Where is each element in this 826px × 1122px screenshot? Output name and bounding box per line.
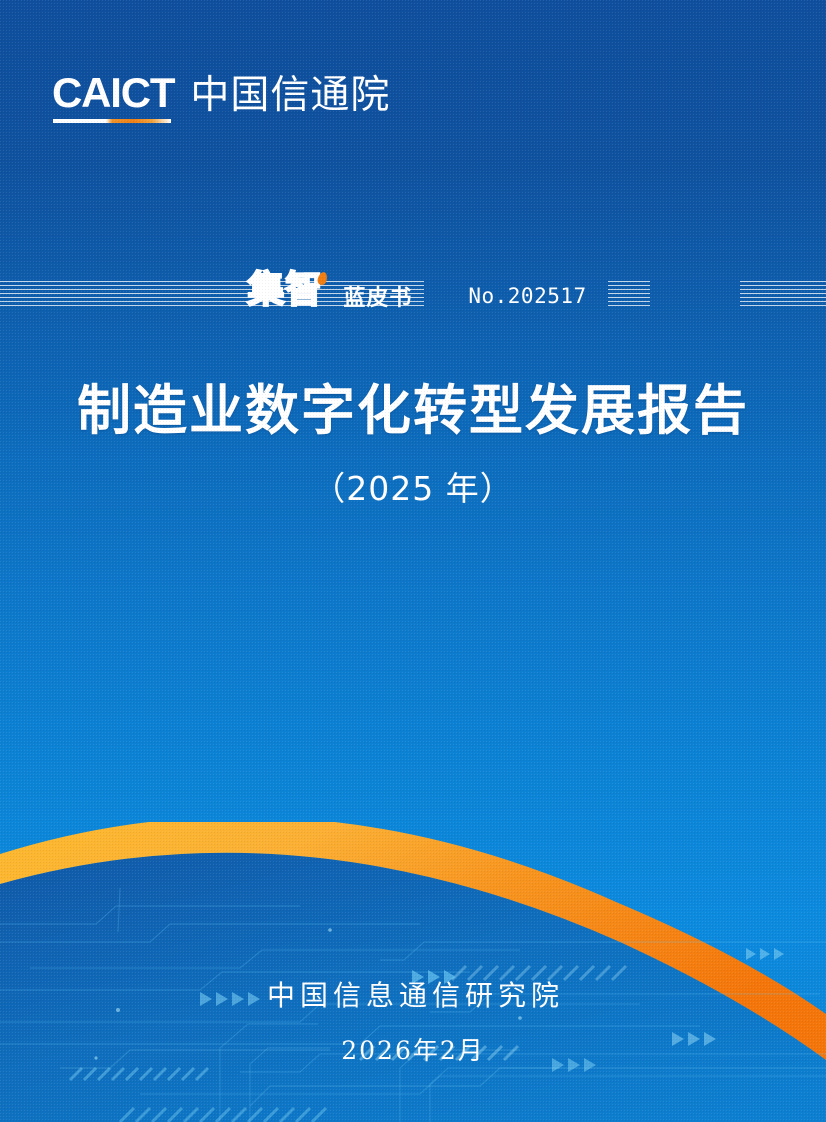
series-label: 蓝皮书 [343,280,412,312]
series-badge: 集智 蓝皮书 No.202517 [0,274,826,314]
issue-number: No.202517 [468,284,586,308]
publisher-organization: 中国信息通信研究院 [0,975,826,1017]
logo-chinese-name: 中国信通院 [190,76,390,115]
report-subtitle: （2025 年） [0,462,826,510]
document-cover: CAICT 中国信通院 集智 蓝皮书 No.202517 制造业数字化转型发展报… [0,0,826,1122]
orange-arc-decoration [0,822,826,1122]
report-title: 制造业数字化转型发展报告 [0,380,826,442]
series-badge-band: 集智 蓝皮书 No.202517 [0,274,826,314]
cover-footer: 中国信息通信研究院 2026年2月 [0,975,826,1067]
arc-svg [0,822,826,1122]
logo-underline-accent [53,119,171,123]
logo-mark: CAICT [52,72,174,114]
publication-date: 2026年2月 [0,1031,826,1067]
logo-acronym: CAICT [52,69,174,116]
series-mark-text: 集智 [247,271,323,308]
caict-logo: CAICT 中国信通院 [52,72,390,114]
series-mark-logo: 集智 [239,276,331,313]
